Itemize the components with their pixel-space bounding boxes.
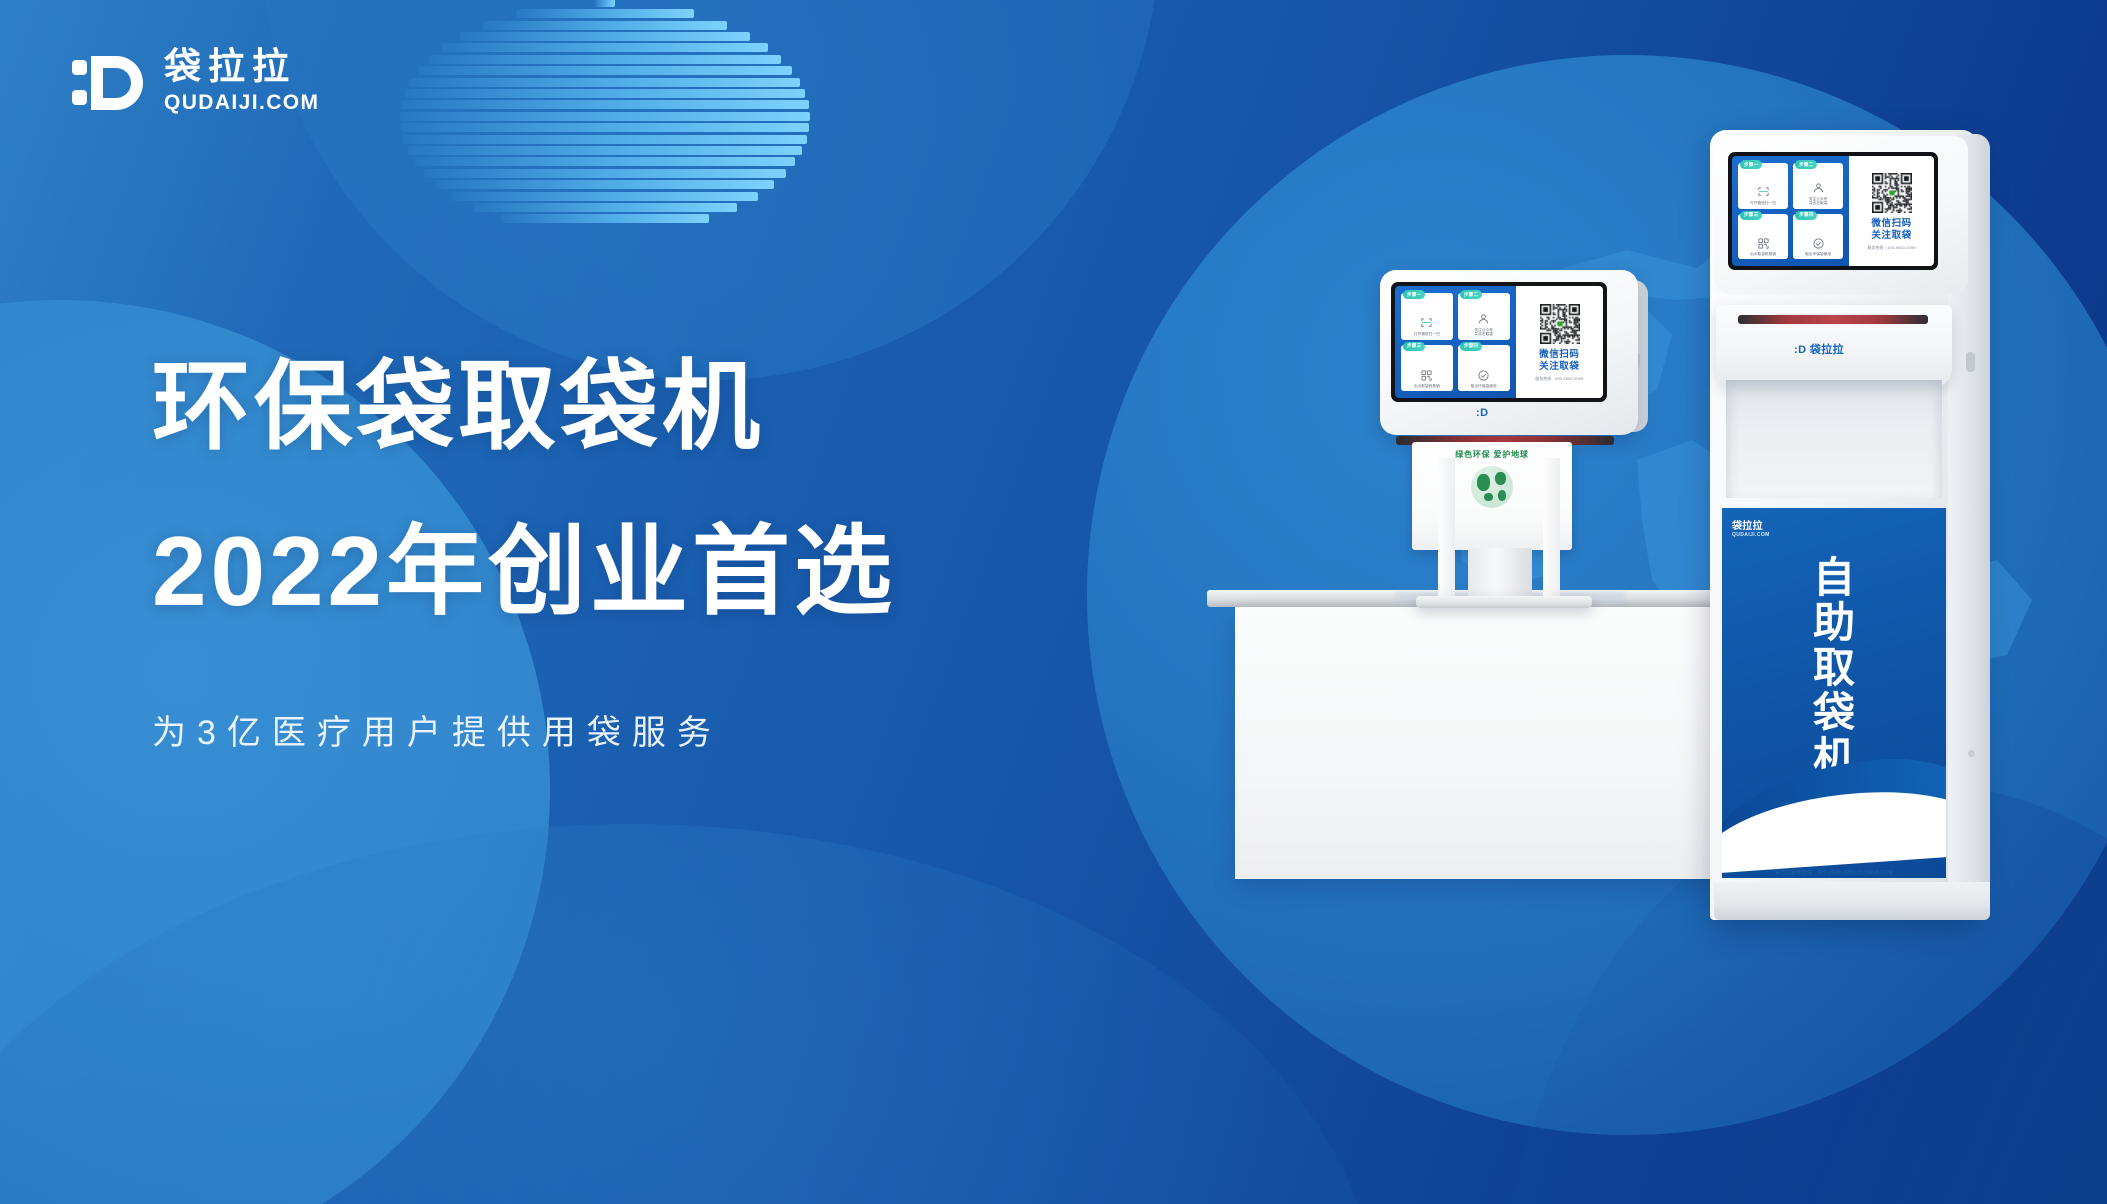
step-text: 关注公众号并点击取袋 (1809, 197, 1827, 206)
panel-title-char: 自 (1813, 556, 1855, 601)
panel-footer-text: 袋拉拉服务热线 : 400-9600-0099 QUDAIJI.COM (1722, 869, 1946, 876)
promo-banner: 袋拉拉 QUDAIJI.COM 环保袋取袋机 2022年创业首选 为3亿医疗用户… (0, 0, 2107, 1204)
screen-steps-panel: 步骤一打开微信扫一扫步骤二关注公众号并点击取袋步骤三出示取袋码核销步骤四取出环保… (1395, 286, 1516, 398)
striped-sphere-decoration (395, 0, 815, 227)
step-text: 出示取袋码核销 (1414, 384, 1440, 388)
headline-line-1: 环保袋取袋机 (152, 355, 1152, 458)
step-badge: 步骤一 (1403, 290, 1425, 299)
step-text: 取出环保袋使用 (1805, 252, 1831, 256)
follow-account-icon (1812, 182, 1825, 195)
brand-name-en: QUDAIJI.COM (164, 90, 319, 116)
step-text: 打开微信扫一扫 (1750, 201, 1776, 205)
kiosk-pickup-alcove (1726, 380, 1942, 498)
step-card[interactable]: 步骤三出示取袋码核销 (1738, 214, 1788, 260)
screen-hotline: 服务热线 : 400-9600-0099 (1868, 246, 1916, 251)
kiosk-head: 步骤一打开微信扫一扫步骤二关注公众号并点击取袋步骤三出示取袋码核销步骤四取出环保… (1714, 136, 1968, 294)
step-badge: 步骤三 (1740, 211, 1762, 220)
desktop-unit-screen[interactable]: 步骤一打开微信扫一扫步骤二关注公众号并点击取袋步骤三出示取袋码核销步骤四取出环保… (1391, 282, 1607, 402)
kiosk-branding-panel: 袋拉拉 QUDAIJI.COM 自助取袋机 袋拉拉服务热线 : 400-9600… (1722, 508, 1946, 878)
product-scene: 步骤一打开微信扫一扫步骤二关注公众号并点击取袋步骤三出示取袋码核销步骤四取出环保… (1180, 120, 2060, 970)
step-card[interactable]: 步骤二关注公众号并点击取袋 (1793, 163, 1843, 209)
green-globe-icon (1471, 466, 1513, 508)
wechat-qr-code[interactable] (1538, 302, 1580, 344)
wechat-line-2: 关注取袋 (1539, 361, 1579, 372)
qr-code-icon (1757, 237, 1770, 250)
panel-title-char: 取 (1813, 646, 1855, 691)
reception-counter (1225, 590, 1785, 890)
step-badge: 步骤二 (1460, 290, 1482, 299)
step-text: 关注公众号并点击取袋 (1474, 328, 1492, 337)
screen-ui-tall: 步骤一打开微信扫一扫步骤二关注公众号并点击取袋步骤三出示取袋码核销步骤四取出环保… (1732, 156, 1934, 266)
desktop-unit-stand (1468, 548, 1532, 602)
desktop-unit-base (1416, 596, 1592, 608)
wechat-line-1: 微信扫码 (1871, 218, 1911, 229)
step-card[interactable]: 步骤四取出环保袋使用 (1458, 345, 1510, 392)
colon-d-logo-icon (72, 51, 146, 113)
follow-account-icon (1477, 313, 1490, 326)
step-badge: 步骤二 (1795, 160, 1817, 169)
kiosk-dispenser-logo: :D 袋拉拉 (1794, 341, 1844, 357)
wechat-line-2: 关注取袋 (1871, 230, 1911, 241)
step-card[interactable]: 步骤四取出环保袋使用 (1793, 214, 1843, 260)
headline-subtitle: 为3亿医疗用户提供用袋服务 (152, 705, 1152, 754)
scan-code-icon (1757, 186, 1770, 199)
desktop-unit-head: 步骤一打开微信扫一扫步骤二关注公众号并点击取袋步骤三出示取袋码核销步骤四取出环保… (1380, 270, 1638, 435)
step-badge: 步骤三 (1403, 342, 1425, 351)
kiosk-dispense-slot (1738, 315, 1928, 324)
kiosk-dispenser: :D 袋拉拉 (1716, 305, 1952, 387)
screen-steps-panel: 步骤一打开微信扫一扫步骤二关注公众号并点击取袋步骤三出示取袋码核销步骤四取出环保… (1732, 156, 1849, 266)
step-badge: 步骤四 (1460, 342, 1482, 351)
step-card[interactable]: 步骤一打开微信扫一扫 (1401, 293, 1453, 340)
step-text: 取出环保袋使用 (1471, 384, 1497, 388)
screen-hotline: 服务热线 : 400-9600-0099 (1535, 377, 1583, 382)
check-circle-icon (1477, 369, 1490, 382)
panel-logo-en: QUDAIJI.COM (1732, 532, 1770, 538)
step-card[interactable]: 步骤三出示取袋码核销 (1401, 345, 1453, 392)
desktop-unit-leg-left (1438, 458, 1455, 600)
panel-logo: 袋拉拉 QUDAIJI.COM (1732, 517, 1770, 538)
panel-title-char: 助 (1813, 601, 1855, 646)
panel-vertical-title: 自助取袋机 (1722, 556, 1946, 781)
check-circle-icon (1812, 237, 1825, 250)
headline-line-2: 2022年创业首选 (152, 520, 1152, 623)
kiosk-screw-icon (1968, 750, 1975, 757)
panel-title-char: 袋 (1813, 691, 1855, 736)
step-text: 打开微信扫一扫 (1414, 332, 1440, 336)
desktop-unit-logo: :D (1476, 407, 1489, 419)
step-badge: 步骤四 (1795, 211, 1817, 220)
kiosk-screen[interactable]: 步骤一打开微信扫一扫步骤二关注公众号并点击取袋步骤三出示取袋码核销步骤四取出环保… (1728, 152, 1938, 270)
scan-code-icon (1420, 317, 1433, 330)
step-card[interactable]: 步骤一打开微信扫一扫 (1738, 163, 1788, 209)
self-service-kiosk: 步骤一打开微信扫一扫步骤二关注公众号并点击取袋步骤三出示取袋码核销步骤四取出环保… (1710, 130, 2030, 920)
brand-logo: 袋拉拉 QUDAIJI.COM (72, 48, 319, 116)
wechat-qr-code[interactable] (1871, 171, 1913, 213)
screen-qr-panel: 微信扫码关注取袋服务热线 : 400-9600-0099 (1516, 286, 1603, 398)
screen-qr-panel: 微信扫码关注取袋服务热线 : 400-9600-0099 (1849, 156, 1934, 266)
desktop-bag-dispenser: 步骤一打开微信扫一扫步骤二关注公众号并点击取袋步骤三出示取袋码核销步骤四取出环保… (1380, 270, 1650, 600)
desktop-unit-leg-right (1543, 458, 1560, 600)
kiosk-knob-icon (1966, 352, 1975, 372)
headline-block: 环保袋取袋机 2022年创业首选 为3亿医疗用户提供用袋服务 (152, 355, 1152, 754)
kiosk-base (1714, 882, 1990, 920)
screen-ui-small: 步骤一打开微信扫一扫步骤二关注公众号并点击取袋步骤三出示取袋码核销步骤四取出环保… (1395, 286, 1603, 398)
panel-logo-cn: 袋拉拉 (1732, 521, 1763, 532)
bag-slogan: 绿色环保 爱护地球 (1455, 449, 1528, 460)
step-badge: 步骤一 (1740, 160, 1762, 169)
counter-body (1235, 607, 1783, 879)
wechat-line-1: 微信扫码 (1539, 349, 1579, 360)
step-card[interactable]: 步骤二关注公众号并点击取袋 (1458, 293, 1510, 340)
qr-code-icon (1420, 369, 1433, 382)
brand-name-cn: 袋拉拉 (164, 48, 319, 87)
step-text: 出示取袋码核销 (1750, 252, 1776, 256)
